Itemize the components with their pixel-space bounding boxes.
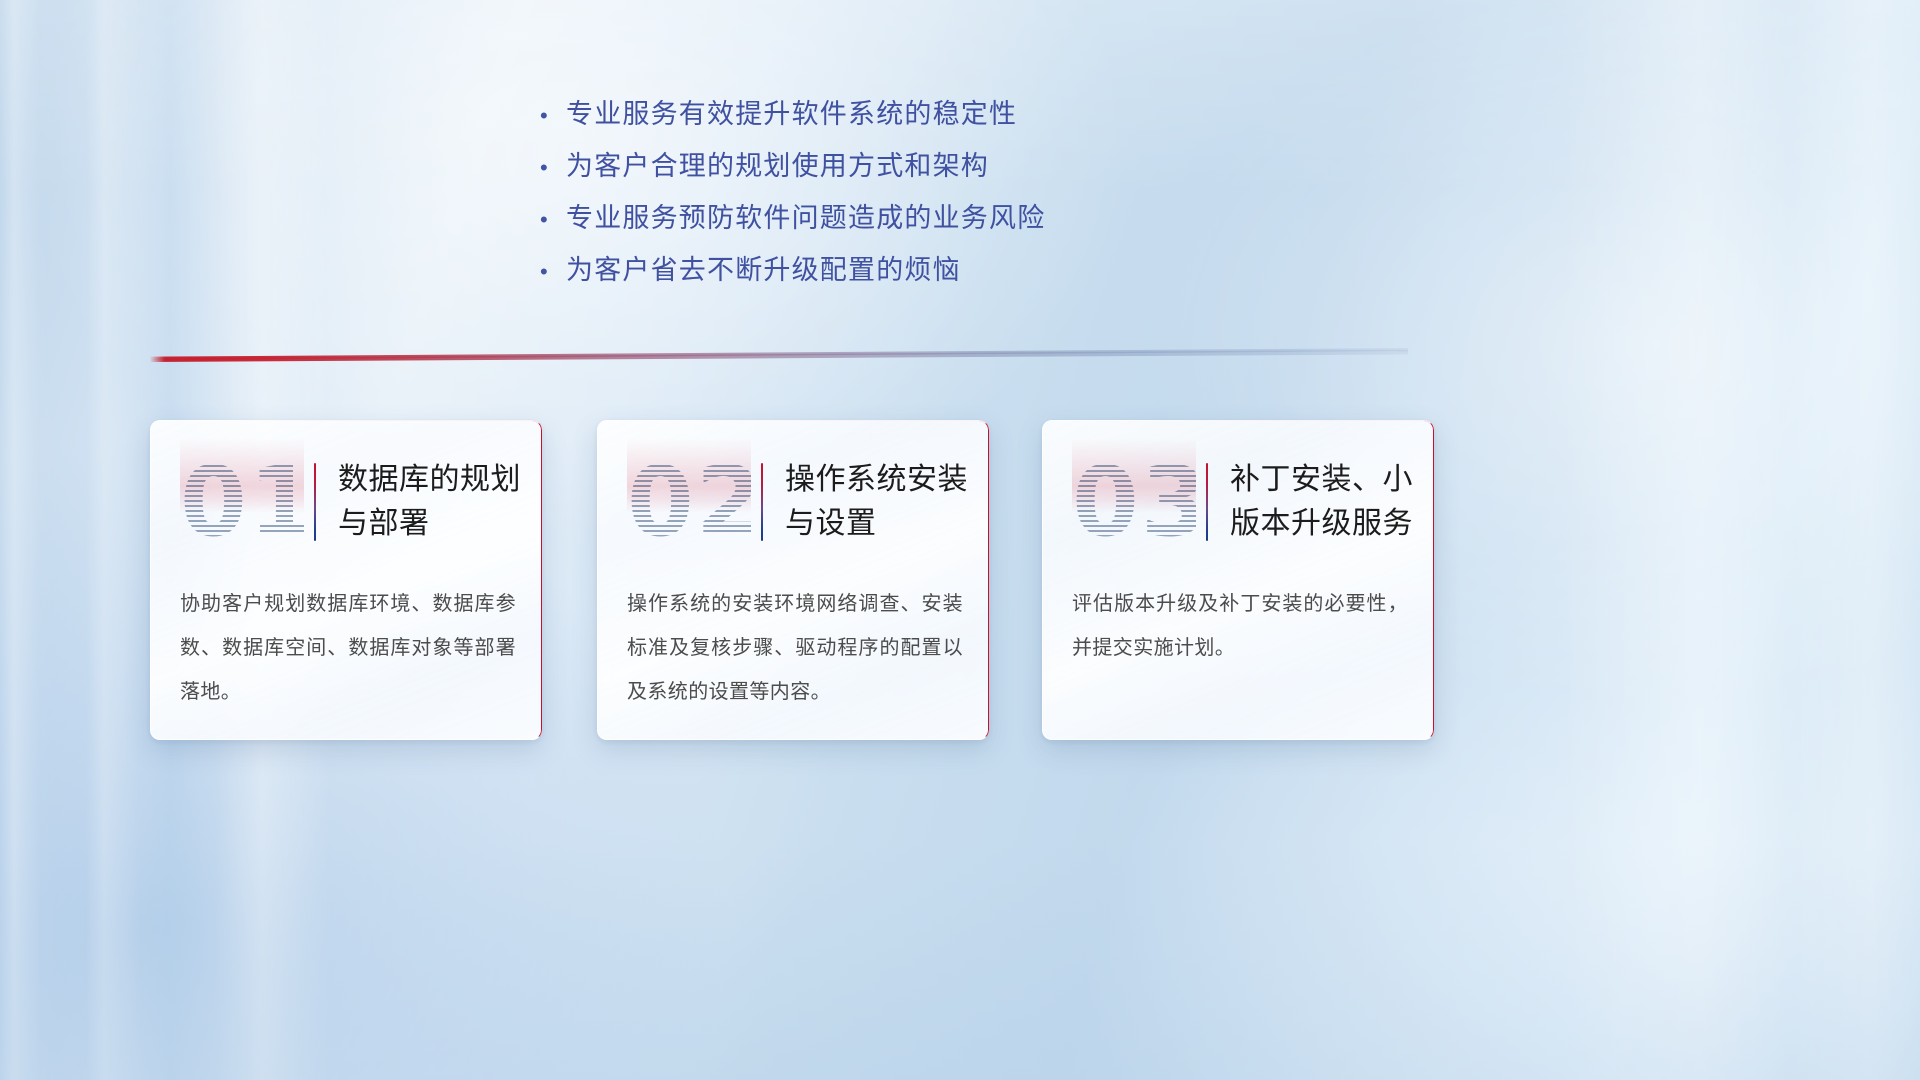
service-card[interactable]: 03 补丁安装、小 版本升级服务 评估版本升级及补丁安装的必要性，并提交实施计划… [1042, 420, 1434, 740]
bullet-dot-icon: • [540, 261, 566, 283]
bullet-dot-icon: • [540, 105, 566, 127]
service-card-number: 03 [1072, 450, 1196, 554]
service-card-header: 01 数据库的规划 与部署 [150, 438, 542, 566]
service-card-title: 数据库的规划 与部署 [338, 458, 521, 546]
service-card-title: 补丁安装、小 版本升级服务 [1230, 458, 1413, 546]
service-card[interactable]: 01 数据库的规划 与部署 协助客户规划数据库环境、数据库参数、数据库空间、数据… [150, 420, 542, 740]
bullet-dot-icon: • [540, 157, 566, 179]
service-card-body: 协助客户规划数据库环境、数据库参数、数据库空间、数据库对象等部署落地。 [180, 582, 516, 714]
bullet-text: 专业服务预防软件问题造成的业务风险 [566, 196, 1045, 235]
service-card-number: 01 [180, 450, 304, 554]
list-item: • 为客户合理的规划使用方式和架构 [540, 144, 1240, 196]
service-card-group: 01 数据库的规划 与部署 协助客户规划数据库环境、数据库参数、数据库空间、数据… [150, 420, 1450, 742]
benefits-bullet-list: • 专业服务有效提升软件系统的稳定性 • 为客户合理的规划使用方式和架构 • 专… [540, 92, 1240, 300]
bullet-text: 为客户合理的规划使用方式和架构 [566, 144, 989, 183]
bullet-dot-icon: • [540, 209, 566, 231]
service-card-body: 操作系统的安装环境网络调查、安装标准及复核步骤、驱动程序的配置以及系统的设置等内… [627, 582, 963, 714]
service-card-header: 03 补丁安装、小 版本升级服务 [1042, 438, 1434, 566]
section-divider [150, 348, 1408, 362]
bullet-text: 专业服务有效提升软件系统的稳定性 [566, 92, 1017, 131]
service-card-number: 02 [627, 450, 751, 554]
list-item: • 专业服务有效提升软件系统的稳定性 [540, 92, 1240, 144]
bullet-text: 为客户省去不断升级配置的烦恼 [566, 248, 961, 287]
service-card-body: 评估版本升级及补丁安装的必要性，并提交实施计划。 [1072, 582, 1408, 670]
list-item: • 为客户省去不断升级配置的烦恼 [540, 248, 1240, 300]
service-card-header: 02 操作系统安装 与设置 [597, 438, 989, 566]
list-item: • 专业服务预防软件问题造成的业务风险 [540, 196, 1240, 248]
service-card-title: 操作系统安装 与设置 [785, 458, 968, 546]
service-card[interactable]: 02 操作系统安装 与设置 操作系统的安装环境网络调查、安装标准及复核步骤、驱动… [597, 420, 989, 740]
